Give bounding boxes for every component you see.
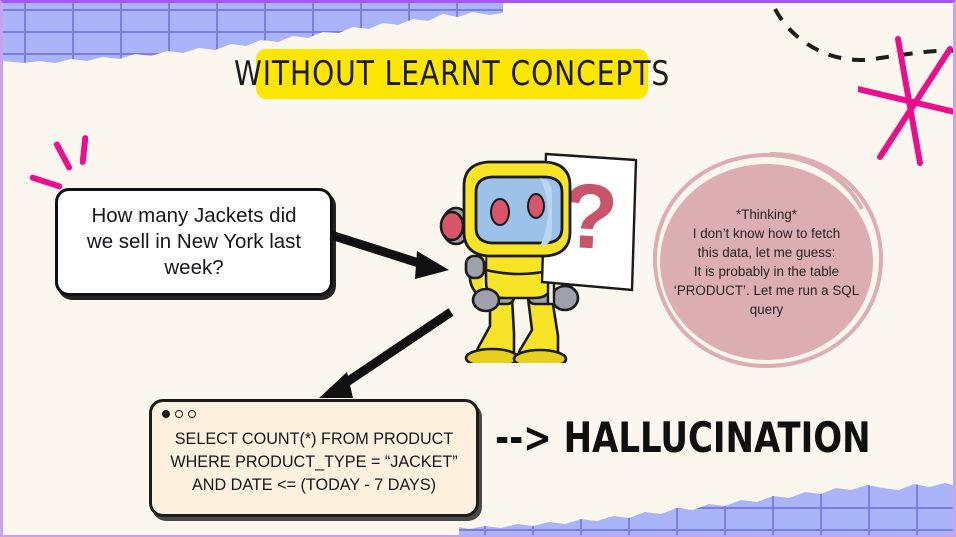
star-burst-decoration bbox=[858, 31, 956, 171]
sql-line-2: WHERE PRODUCT_TYPE = “JACKET” bbox=[170, 453, 457, 471]
window-dots bbox=[162, 410, 196, 418]
hallucination-label: --> HALLUCINATION bbox=[495, 413, 871, 462]
question-text: How many Jackets did we sell in New York… bbox=[87, 203, 301, 282]
thinking-circle-fill: *Thinking* I don’t know how to fetch thi… bbox=[660, 164, 873, 360]
sql-code-window: SELECT COUNT(*) FROM PRODUCT WHERE PRODU… bbox=[149, 399, 479, 517]
question-line-1: How many Jackets did bbox=[91, 204, 296, 227]
window-dot-close-icon[interactable] bbox=[162, 410, 170, 418]
thinking-line-4: ‘PRODUCT’. Let me run a SQL bbox=[674, 283, 859, 298]
sparkle-stroke-1 bbox=[29, 174, 63, 190]
thinking-bubble: *Thinking* I don’t know how to fetch thi… bbox=[648, 151, 888, 369]
window-dot-maximize-icon[interactable] bbox=[188, 410, 196, 418]
thinking-line-3: It is probably in the table bbox=[694, 264, 839, 279]
window-dot-minimize-icon[interactable] bbox=[175, 410, 183, 418]
question-line-2: we sell in New York last bbox=[87, 230, 301, 253]
thinking-line-2: this data, let me guess: bbox=[698, 245, 836, 260]
sql-line-3: AND DATE <= (TODAY - 7 DAYS) bbox=[192, 476, 436, 494]
robot-illustration: ? bbox=[428, 148, 643, 363]
title-banner: WITHOUT LEARNT CONCEPTS bbox=[256, 49, 648, 99]
page-title: WITHOUT LEARNT CONCEPTS bbox=[234, 54, 670, 94]
thinking-line-1: I don’t know how to fetch bbox=[693, 226, 840, 241]
grid-paper-band-bottom bbox=[459, 481, 956, 537]
thinking-header: *Thinking* bbox=[736, 207, 797, 222]
question-speech-bubble: How many Jackets did we sell in New York… bbox=[55, 188, 333, 296]
question-line-3: week? bbox=[164, 256, 223, 279]
thinking-line-5: query bbox=[750, 302, 784, 317]
sql-query-text: SELECT COUNT(*) FROM PRODUCT WHERE PRODU… bbox=[152, 428, 476, 497]
sparkle-stroke-3 bbox=[79, 135, 88, 165]
slide-canvas: WITHOUT LEARNT CONCEPTS How many Jackets… bbox=[0, 0, 956, 537]
sparkle-stroke-2 bbox=[53, 140, 73, 171]
thinking-text: *Thinking* I don’t know how to fetch thi… bbox=[669, 205, 865, 319]
sql-line-1: SELECT COUNT(*) FROM PRODUCT bbox=[175, 430, 454, 448]
